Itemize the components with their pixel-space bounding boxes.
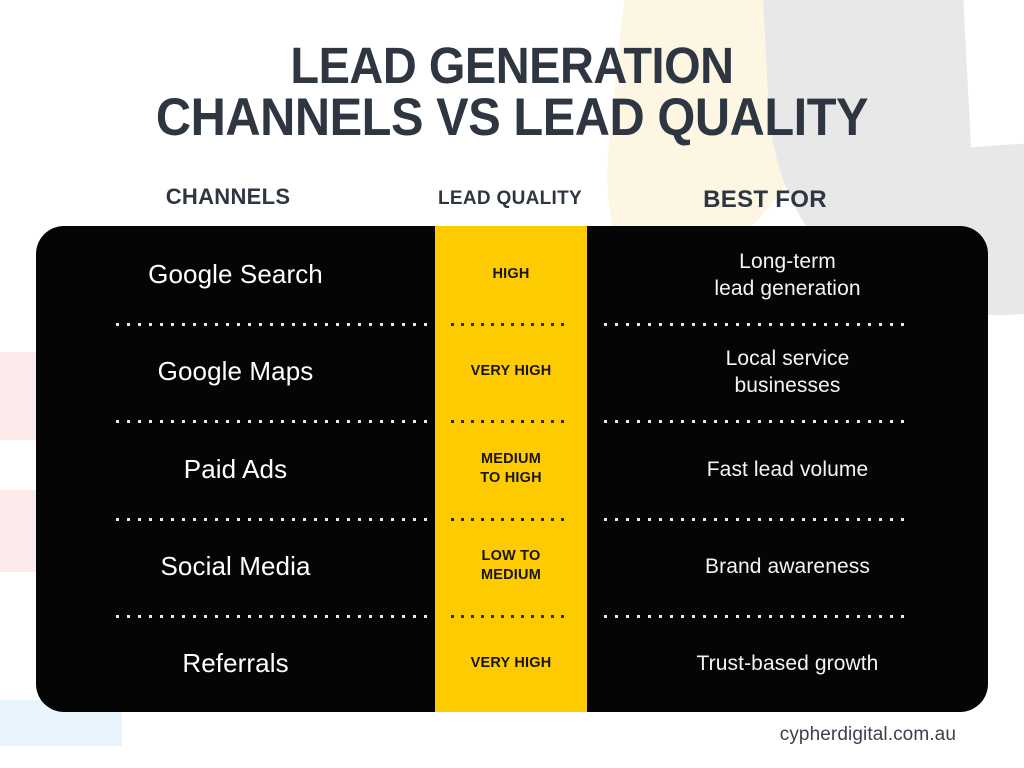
channel-label: Google Maps — [158, 356, 314, 387]
cell-best-for: Long-term lead generation — [587, 226, 988, 323]
lead-quality-value-line-1: HIGH — [492, 266, 529, 282]
best-for-value-line-1: Brand awareness — [705, 555, 870, 578]
cell-channel-name: Social Media — [36, 518, 435, 615]
lead-quality-value-line-1: LOW TO — [482, 548, 541, 564]
channel-label: Referrals — [182, 648, 288, 679]
page-title: LEAD GENERATION CHANNELS VS LEAD QUALITY — [41, 40, 983, 144]
cell-channel-name: Referrals — [36, 615, 435, 712]
best-for-value: Fast lead volume — [707, 456, 869, 483]
column-header-lead-quality: LEAD QUALITY — [410, 188, 610, 210]
lead-quality-value: HIGH — [492, 265, 529, 284]
table-row: Referrals VERY HIGH Trust-based growth — [36, 615, 988, 712]
cell-best-for: Brand awareness — [587, 518, 988, 615]
cell-best-for: Fast lead volume — [587, 420, 988, 517]
best-for-value: Brand awareness — [705, 553, 870, 580]
cell-lead-quality: VERY HIGH — [435, 615, 587, 712]
website-url: cypherdigital.com.au — [780, 724, 956, 746]
best-for-value: Trust-based growth — [697, 650, 879, 677]
comparison-table-rows: Google Search HIGH Long-term lead genera… — [36, 226, 988, 712]
column-header-best-for: BEST FOR — [665, 186, 865, 214]
cell-lead-quality: LOW TO MEDIUM — [435, 518, 587, 615]
lead-quality-value-line-1: VERY HIGH — [471, 655, 552, 671]
best-for-value-line-1: Fast lead volume — [707, 458, 869, 481]
table-row: Google Maps VERY HIGH Local service busi… — [36, 323, 988, 420]
best-for-value-line-1: Trust-based growth — [697, 652, 879, 675]
best-for-value: Local service businesses — [726, 345, 850, 399]
cell-lead-quality: HIGH — [435, 226, 587, 323]
best-for-value-line-1: Local service — [726, 347, 850, 370]
cell-channel-name: Paid Ads — [36, 420, 435, 517]
cell-best-for: Local service businesses — [587, 323, 988, 420]
table-row: Social Media LOW TO MEDIUM Brand awarene… — [36, 518, 988, 615]
lead-quality-value: MEDIUM TO HIGH — [480, 450, 542, 488]
best-for-value: Long-term lead generation — [714, 248, 860, 302]
best-for-value-line-2: lead generation — [714, 275, 860, 302]
best-for-value-line-1: Long-term — [739, 250, 836, 273]
pink-band-decoration-bottom — [0, 490, 36, 572]
pink-band-decoration-top — [0, 352, 36, 440]
page-title-line-2: CHANNELS VS LEAD QUALITY — [41, 92, 983, 144]
lead-quality-value: VERY HIGH — [471, 362, 552, 381]
comparison-table-card: Google Search HIGH Long-term lead genera… — [36, 226, 988, 712]
lead-quality-value-line-1: MEDIUM — [481, 451, 541, 467]
lead-quality-value-line-1: VERY HIGH — [471, 363, 552, 379]
page-title-line-1: LEAD GENERATION — [41, 40, 983, 92]
channel-label: Google Search — [148, 259, 323, 290]
lead-quality-value-line-2: MEDIUM — [481, 566, 541, 585]
cell-channel-name: Google Search — [36, 226, 435, 323]
cell-lead-quality: MEDIUM TO HIGH — [435, 420, 587, 517]
cell-channel-name: Google Maps — [36, 323, 435, 420]
cell-lead-quality: VERY HIGH — [435, 323, 587, 420]
best-for-value-line-2: businesses — [726, 372, 850, 399]
lead-quality-value: VERY HIGH — [471, 654, 552, 673]
table-row: Google Search HIGH Long-term lead genera… — [36, 226, 988, 323]
infographic-canvas: LEAD GENERATION CHANNELS VS LEAD QUALITY… — [0, 0, 1024, 768]
lead-quality-value-line-2: TO HIGH — [480, 469, 542, 488]
table-row: Paid Ads MEDIUM TO HIGH Fast lead volume — [36, 420, 988, 517]
cell-best-for: Trust-based growth — [587, 615, 988, 712]
channel-label: Social Media — [160, 551, 310, 582]
channel-label: Paid Ads — [184, 454, 287, 485]
lead-quality-value: LOW TO MEDIUM — [481, 547, 541, 585]
column-header-channels: CHANNELS — [128, 184, 328, 210]
